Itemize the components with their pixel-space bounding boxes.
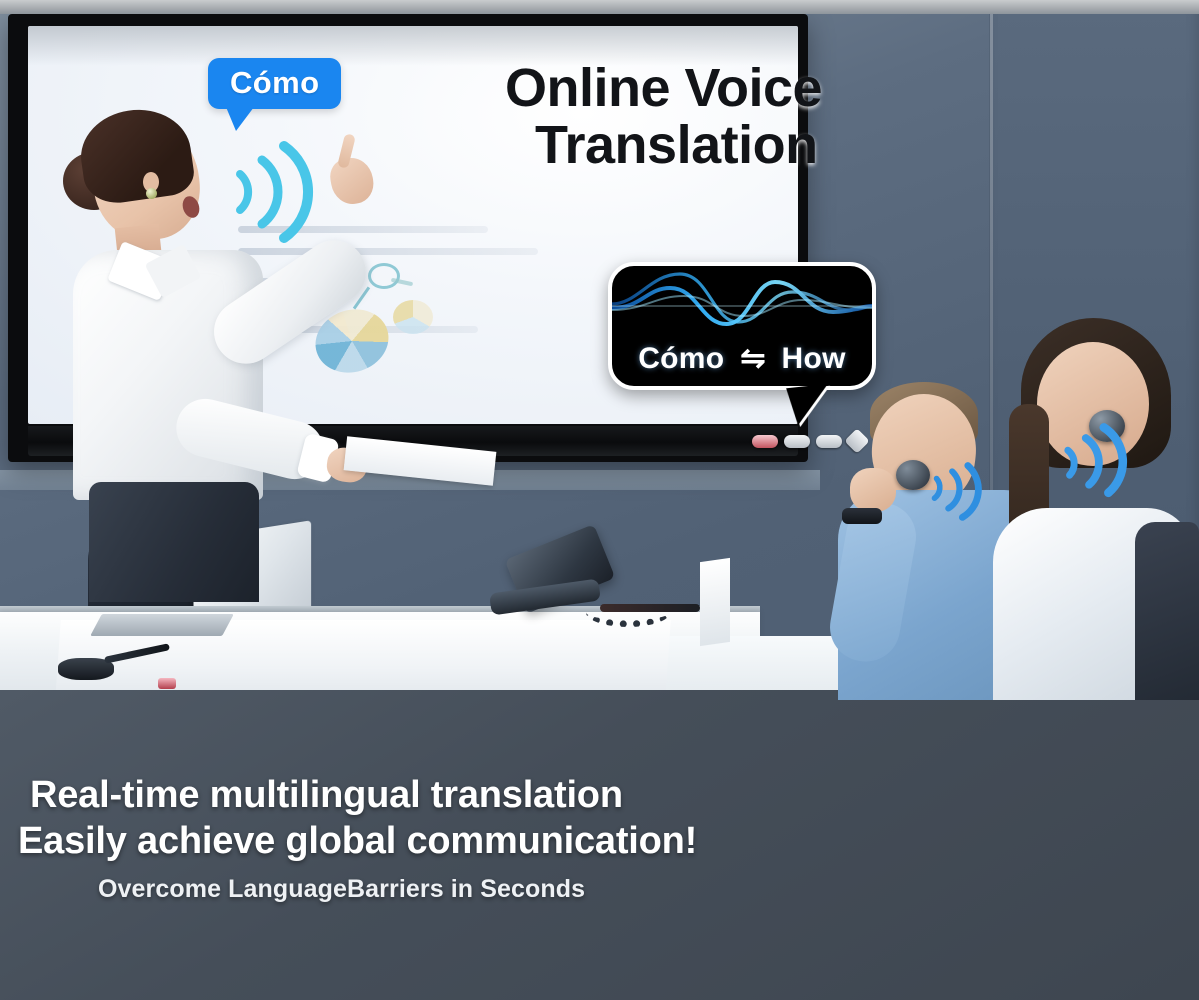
receiving-waves-icon-male <box>919 450 1001 535</box>
subtitle: Overcome LanguageBarriers in Seconds <box>98 875 738 904</box>
translation-bubble-body: Cómo ⇋ How <box>608 262 876 390</box>
top-edge-strip <box>0 0 1199 14</box>
phone-cord <box>586 598 670 627</box>
conference-room-scene: Online Voice Translation <box>0 0 1199 700</box>
translation-bubble-tail <box>786 384 832 426</box>
speech-bubble-tail <box>226 107 254 131</box>
speech-bubble-como: Cómo <box>208 58 341 109</box>
speech-bubble-text: Cómo <box>230 67 319 98</box>
waveform-graphic <box>612 266 872 336</box>
translation-word-pair: Cómo ⇋ How <box>612 344 872 374</box>
desk-cable <box>600 604 700 612</box>
marker-white-1 <box>784 435 810 448</box>
speech-bubble-body: Cómo <box>208 58 341 109</box>
presenter-hair <box>75 103 196 207</box>
product-advertisement-image: Online Voice Translation <box>0 0 1199 1000</box>
speaking-waves-icon <box>222 132 342 257</box>
headline-line1: Real-time multilingual translation <box>30 772 738 818</box>
swap-icon: ⇋ <box>740 344 765 374</box>
laptop-keyboard <box>90 614 234 636</box>
marker-red <box>752 435 778 448</box>
translation-bubble: Cómo ⇋ How <box>608 262 876 390</box>
receiving-waves-icon-female <box>1050 411 1150 515</box>
listener-female-jacket <box>1135 522 1199 700</box>
board-headline-line1: Online Voice <box>505 62 905 115</box>
marketing-banner: Real-time multilingual translation Easil… <box>0 690 1199 1000</box>
marketing-copy: Real-time multilingual translation Easil… <box>18 772 738 904</box>
board-headline: Online Voice Translation <box>505 62 905 172</box>
desk-divider <box>700 558 730 646</box>
presenter-skirt <box>89 482 259 602</box>
headline-line2: Easily achieve global communication! <box>18 818 738 864</box>
listener-male-hand <box>850 468 896 512</box>
wristwatch <box>842 508 882 524</box>
source-word: Cómo <box>638 344 724 374</box>
board-headline-line2: Translation <box>535 119 905 172</box>
earring <box>146 188 157 199</box>
red-clip <box>158 678 176 689</box>
target-word: How <box>782 344 846 374</box>
